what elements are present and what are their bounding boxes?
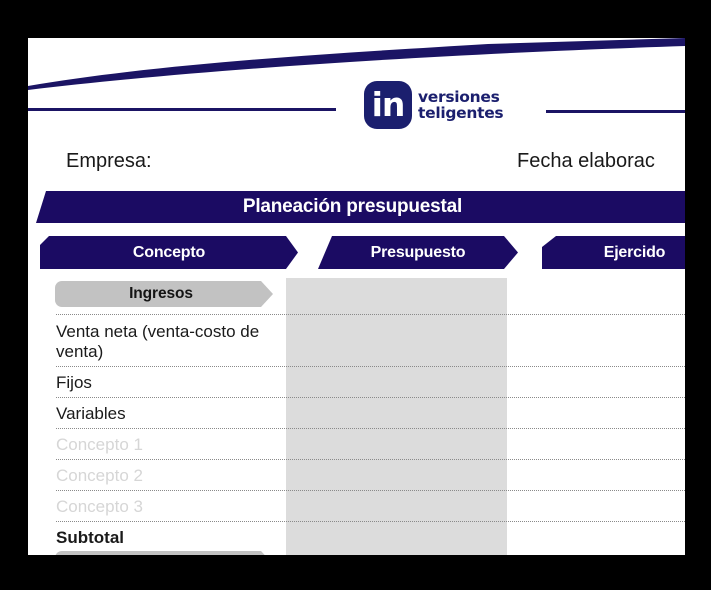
screenshot-canvas: in versiones teligentes Empresa: Fecha e…	[0, 0, 711, 590]
column-header-presupuesto[interactable]: Presupuesto	[318, 236, 518, 269]
column-header-concepto[interactable]: Concepto	[40, 236, 298, 269]
row-separator	[56, 521, 685, 522]
column-header-presupuesto-label: Presupuesto	[371, 244, 466, 262]
row-separator	[56, 366, 685, 367]
table-row[interactable]: Variables	[56, 404, 284, 424]
logo-wordmark-line-1: versiones	[418, 89, 503, 105]
presupuesto-value-column[interactable]	[286, 278, 507, 555]
company-logo: in versiones teligentes	[364, 81, 503, 129]
row-separator	[56, 490, 685, 491]
empresa-label: Empresa:	[66, 150, 152, 173]
logo-wordmark: versiones teligentes	[418, 89, 503, 121]
section-banner-ingresos: Ingresos	[55, 281, 273, 307]
section-banner-ingresos-label: Ingresos	[129, 285, 193, 303]
page-title: Planeación presupuestal	[243, 196, 462, 218]
logo-in-mark-icon: in	[364, 81, 412, 129]
column-header-ejercido[interactable]: Ejercido	[542, 236, 685, 269]
budget-table-body: Ingresos Venta neta (venta-costo de vent…	[28, 278, 685, 555]
table-row[interactable]: Subtotal	[56, 528, 284, 548]
document-title-banner: Planeación presupuestal	[36, 191, 685, 223]
column-header-ejercido-label: Ejercido	[604, 244, 666, 262]
column-header-concepto-label: Concepto	[133, 244, 205, 262]
section-banner-next-clipped	[55, 551, 273, 555]
table-row[interactable]: Fijos	[56, 373, 284, 393]
table-row[interactable]: Concepto 1	[56, 435, 284, 455]
document-meta-row: Empresa: Fecha elaborac	[28, 150, 685, 180]
budget-planning-document: in versiones teligentes Empresa: Fecha e…	[28, 38, 685, 555]
fecha-elaboracion-label: Fecha elaborac	[517, 150, 655, 173]
row-separator	[56, 428, 685, 429]
row-separator	[56, 314, 685, 315]
header-swoosh-decoration	[28, 38, 685, 90]
logo-wordmark-line-2: teligentes	[418, 105, 503, 121]
header-rule-right	[546, 110, 685, 113]
table-row[interactable]: Concepto 3	[56, 497, 284, 517]
row-separator	[56, 459, 685, 460]
table-row[interactable]: Venta neta (venta-costo de venta)	[56, 322, 284, 361]
header-rule-left	[28, 108, 336, 111]
row-separator	[56, 397, 685, 398]
table-row[interactable]: Concepto 2	[56, 466, 284, 486]
